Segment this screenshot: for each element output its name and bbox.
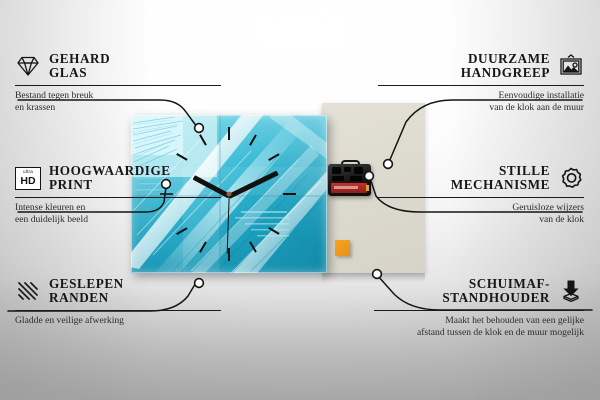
- feature-rule: [378, 197, 584, 198]
- feature-desc-2: en krassen: [15, 102, 221, 114]
- foam-spacer: [335, 240, 350, 256]
- feature-desc-1: Maakt het behouden van een gelijke: [374, 315, 584, 327]
- feature-desc-1: Geruisloze wijzers: [378, 202, 584, 214]
- diamond-icon: [15, 54, 41, 78]
- mechanism-slot-3: [354, 167, 363, 174]
- mechanism-battery: [331, 183, 367, 193]
- feature-title-2: RANDEN: [49, 291, 124, 305]
- feature-rule: [15, 85, 221, 86]
- feature-rule: [15, 197, 221, 198]
- feature-title-2: STANDHOUDER: [442, 291, 550, 305]
- feature-desc-1: Gladde en veilige afwerking: [15, 315, 221, 327]
- feature-title: SCHUIMAF-: [442, 277, 550, 291]
- feature-title-2: GLAS: [49, 66, 110, 80]
- feature-desc-2: van de klok aan de muur: [378, 102, 584, 114]
- mechanism-slot-2: [344, 167, 351, 172]
- feature-gehard-glas: GEHARD GLAS Bestand tegen breuk en krass…: [15, 52, 221, 114]
- press-down-arrow-icon: [558, 279, 584, 303]
- battery-positive-terminal: [366, 185, 369, 191]
- mechanism-slot-5: [350, 176, 362, 181]
- feature-title-2: PRINT: [49, 178, 171, 192]
- feature-desc-2: van de klok: [378, 214, 584, 226]
- feature-desc-1: Intense kleuren en: [15, 202, 221, 214]
- feature-desc-1: Eenvoudige installatie: [378, 90, 584, 102]
- mechanism-slot-4: [332, 176, 344, 181]
- feature-title: GESLEPEN: [49, 277, 124, 291]
- diagonal-lines-icon: [15, 279, 41, 303]
- battery-label-stripe: [334, 186, 358, 189]
- feature-stille-mechanisme: STILLE MECHANISME Geruisloze wijzers van…: [378, 164, 584, 226]
- feature-rule: [378, 85, 584, 86]
- feature-desc-1: Bestand tegen breuk: [15, 90, 221, 102]
- hd-badge-main-label: HD: [20, 176, 35, 187]
- feature-title-2: HANDGREEP: [461, 66, 550, 80]
- mechanism-slot-1: [332, 167, 341, 174]
- feature-title: DUURZAME: [461, 52, 550, 66]
- gear-icon: [558, 166, 584, 190]
- feature-geslepen-randen: GESLEPEN RANDEN Gladde en veilige afwerk…: [15, 277, 221, 327]
- mechanism-body: [328, 164, 371, 196]
- clock-mechanism: [328, 160, 371, 196]
- infographic-canvas: GEHARD GLAS Bestand tegen breuk en krass…: [0, 0, 600, 400]
- feature-desc-2: een duidelijk beeld: [15, 214, 221, 226]
- feature-title: GEHARD: [49, 52, 110, 66]
- feature-title-2: MECHANISME: [451, 178, 550, 192]
- picture-frame-icon: [558, 54, 584, 78]
- feature-duurzame-handgreep: DUURZAME HANDGREEP Eenvoudige installati…: [378, 52, 584, 114]
- feature-desc-2: afstand tussen de klok en de muur mogeli…: [374, 327, 584, 339]
- ultra-hd-badge-icon: ultra HD: [15, 167, 41, 190]
- feature-rule: [374, 310, 584, 311]
- feature-schuimafstandhouder: SCHUIMAF- STANDHOUDER Maakt het behouden…: [374, 277, 584, 339]
- feature-title: STILLE: [451, 164, 550, 178]
- feature-title: HOOGWAARDIGE: [49, 164, 171, 178]
- feature-rule: [15, 310, 221, 311]
- clock-center-cap: [227, 192, 232, 197]
- feature-hoogwaardige-print: ultra HD HOOGWAARDIGE PRINT Intense kleu…: [15, 164, 221, 226]
